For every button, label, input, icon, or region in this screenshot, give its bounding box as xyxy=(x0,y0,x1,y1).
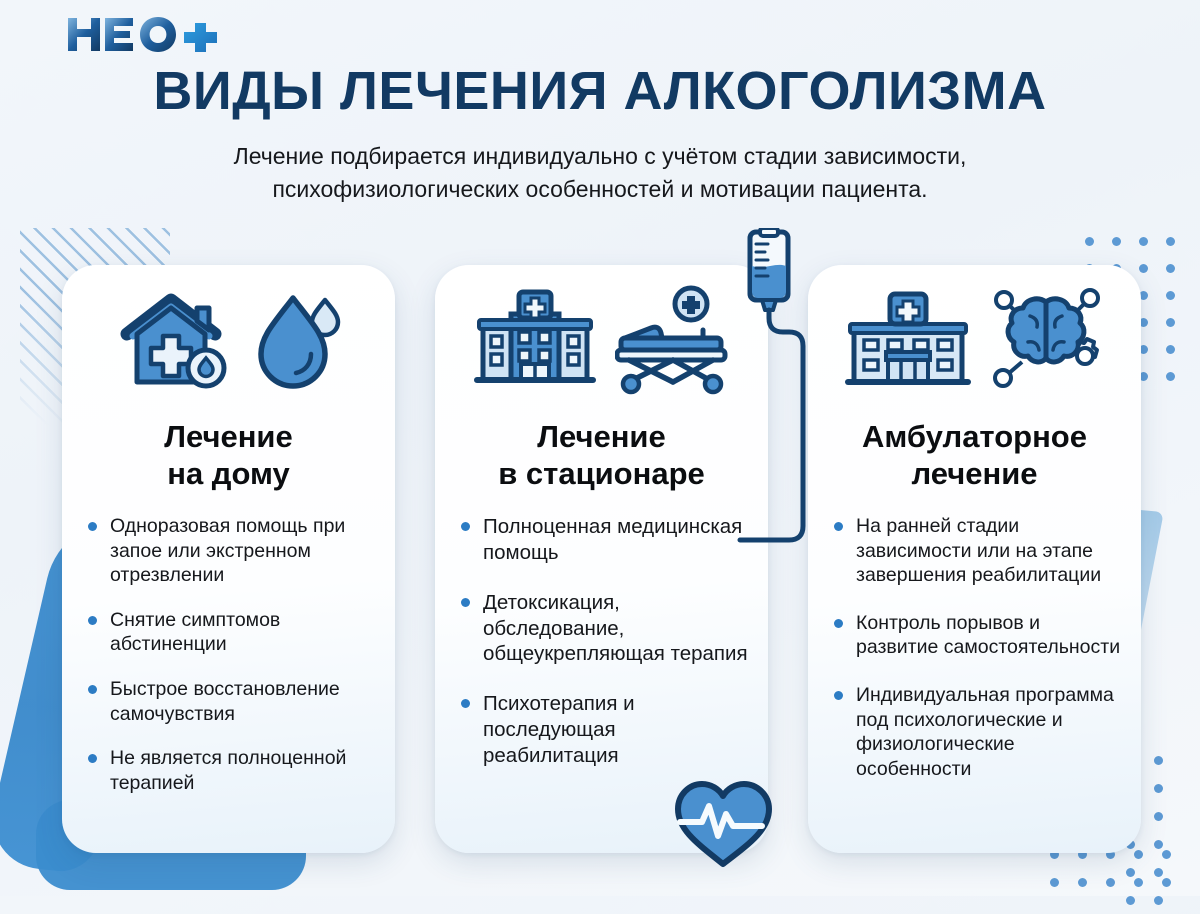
iv-drip-icon xyxy=(718,228,828,558)
card-1-bullet: Снятие симптомов абстиненции xyxy=(88,608,377,657)
dot xyxy=(1126,896,1135,905)
dot xyxy=(1085,237,1094,246)
dot xyxy=(1166,372,1175,381)
water-drop-icon xyxy=(253,284,349,396)
dot xyxy=(1112,237,1121,246)
card-2-bullet: Полноценная медицинская помощь xyxy=(461,514,750,566)
card-3-title-line-2: лечение xyxy=(824,456,1125,493)
dot xyxy=(1154,812,1163,821)
card-outpatient-treatment[interactable]: Амбулаторное лечение На ранней стадии за… xyxy=(808,265,1141,853)
card-1-bullet: Не является полноценной терапией xyxy=(88,746,377,795)
dot xyxy=(1134,850,1143,859)
dot xyxy=(1166,345,1175,354)
dot xyxy=(1154,784,1163,793)
card-2-title: Лечение в стационаре xyxy=(451,419,752,492)
card-1-title: Лечение на дому xyxy=(78,419,379,492)
dot xyxy=(1162,850,1171,859)
dot xyxy=(1166,291,1175,300)
card-3-bullet: Индивидуальная программа под психологиче… xyxy=(834,683,1123,781)
heart-pulse-icon xyxy=(672,778,774,870)
page-subtitle: Лечение подбирается индивидуально с учёт… xyxy=(90,140,1110,205)
card-3-icon-row xyxy=(808,265,1141,415)
dot xyxy=(1078,878,1087,887)
subtitle-line-1: Лечение подбирается индивидуально с учёт… xyxy=(90,140,1110,173)
card-3-title: Амбулаторное лечение xyxy=(824,419,1125,492)
card-1-bullet: Быстрое восстановление самочувствия xyxy=(88,677,377,726)
dot xyxy=(1154,840,1163,849)
hospital-building-icon xyxy=(471,284,599,396)
dot xyxy=(1166,318,1175,327)
infographic-canvas: ВИДЫ ЛЕЧЕНИЯ АЛКОГОЛИЗМА Лечение подбира… xyxy=(0,0,1200,896)
card-3-bullet: На ранней стадии зависимости или на этап… xyxy=(834,514,1123,588)
card-2-title-line-2: в стационаре xyxy=(451,456,752,493)
card-home-treatment[interactable]: Лечение на дому Одноразовая помощь при з… xyxy=(62,265,395,853)
brain-gear-icon xyxy=(988,284,1106,396)
dot xyxy=(1166,237,1175,246)
card-1-bullet-list: Одноразовая помощь при запое или экстрен… xyxy=(62,514,395,795)
card-1-bullet: Одноразовая помощь при запое или экстрен… xyxy=(88,514,377,588)
dot xyxy=(1154,896,1163,905)
dot xyxy=(1134,878,1143,887)
card-1-title-line-1: Лечение xyxy=(78,419,379,456)
home-medical-icon xyxy=(109,284,237,396)
dot xyxy=(1139,237,1148,246)
card-2-bullet: Психотерапия и последующая реабилитация xyxy=(461,691,750,768)
dot xyxy=(1166,264,1175,273)
dot xyxy=(1126,868,1135,877)
dot xyxy=(1162,878,1171,887)
card-1-title-line-2: на дому xyxy=(78,456,379,493)
dot xyxy=(1106,878,1115,887)
card-1-icon-row xyxy=(62,265,395,415)
hospital-gurney-icon xyxy=(615,284,733,396)
card-3-bullet-list: На ранней стадии зависимости или на этап… xyxy=(808,514,1141,781)
card-3-bullet: Контроль порывов и развитие самостоятель… xyxy=(834,611,1123,660)
card-3-title-line-1: Амбулаторное xyxy=(824,419,1125,456)
card-2-title-line-1: Лечение xyxy=(451,419,752,456)
brand-logo xyxy=(62,12,252,56)
dot xyxy=(1154,868,1163,877)
clinic-building-icon xyxy=(844,284,972,396)
page-title: ВИДЫ ЛЕЧЕНИЯ АЛКОГОЛИЗМА xyxy=(0,60,1200,122)
dot xyxy=(1154,756,1163,765)
subtitle-line-2: психофизиологических особенностей и моти… xyxy=(90,173,1110,206)
dot xyxy=(1050,878,1059,887)
card-2-bullet: Детоксикация, обследование, общеукрепляю… xyxy=(461,590,750,667)
